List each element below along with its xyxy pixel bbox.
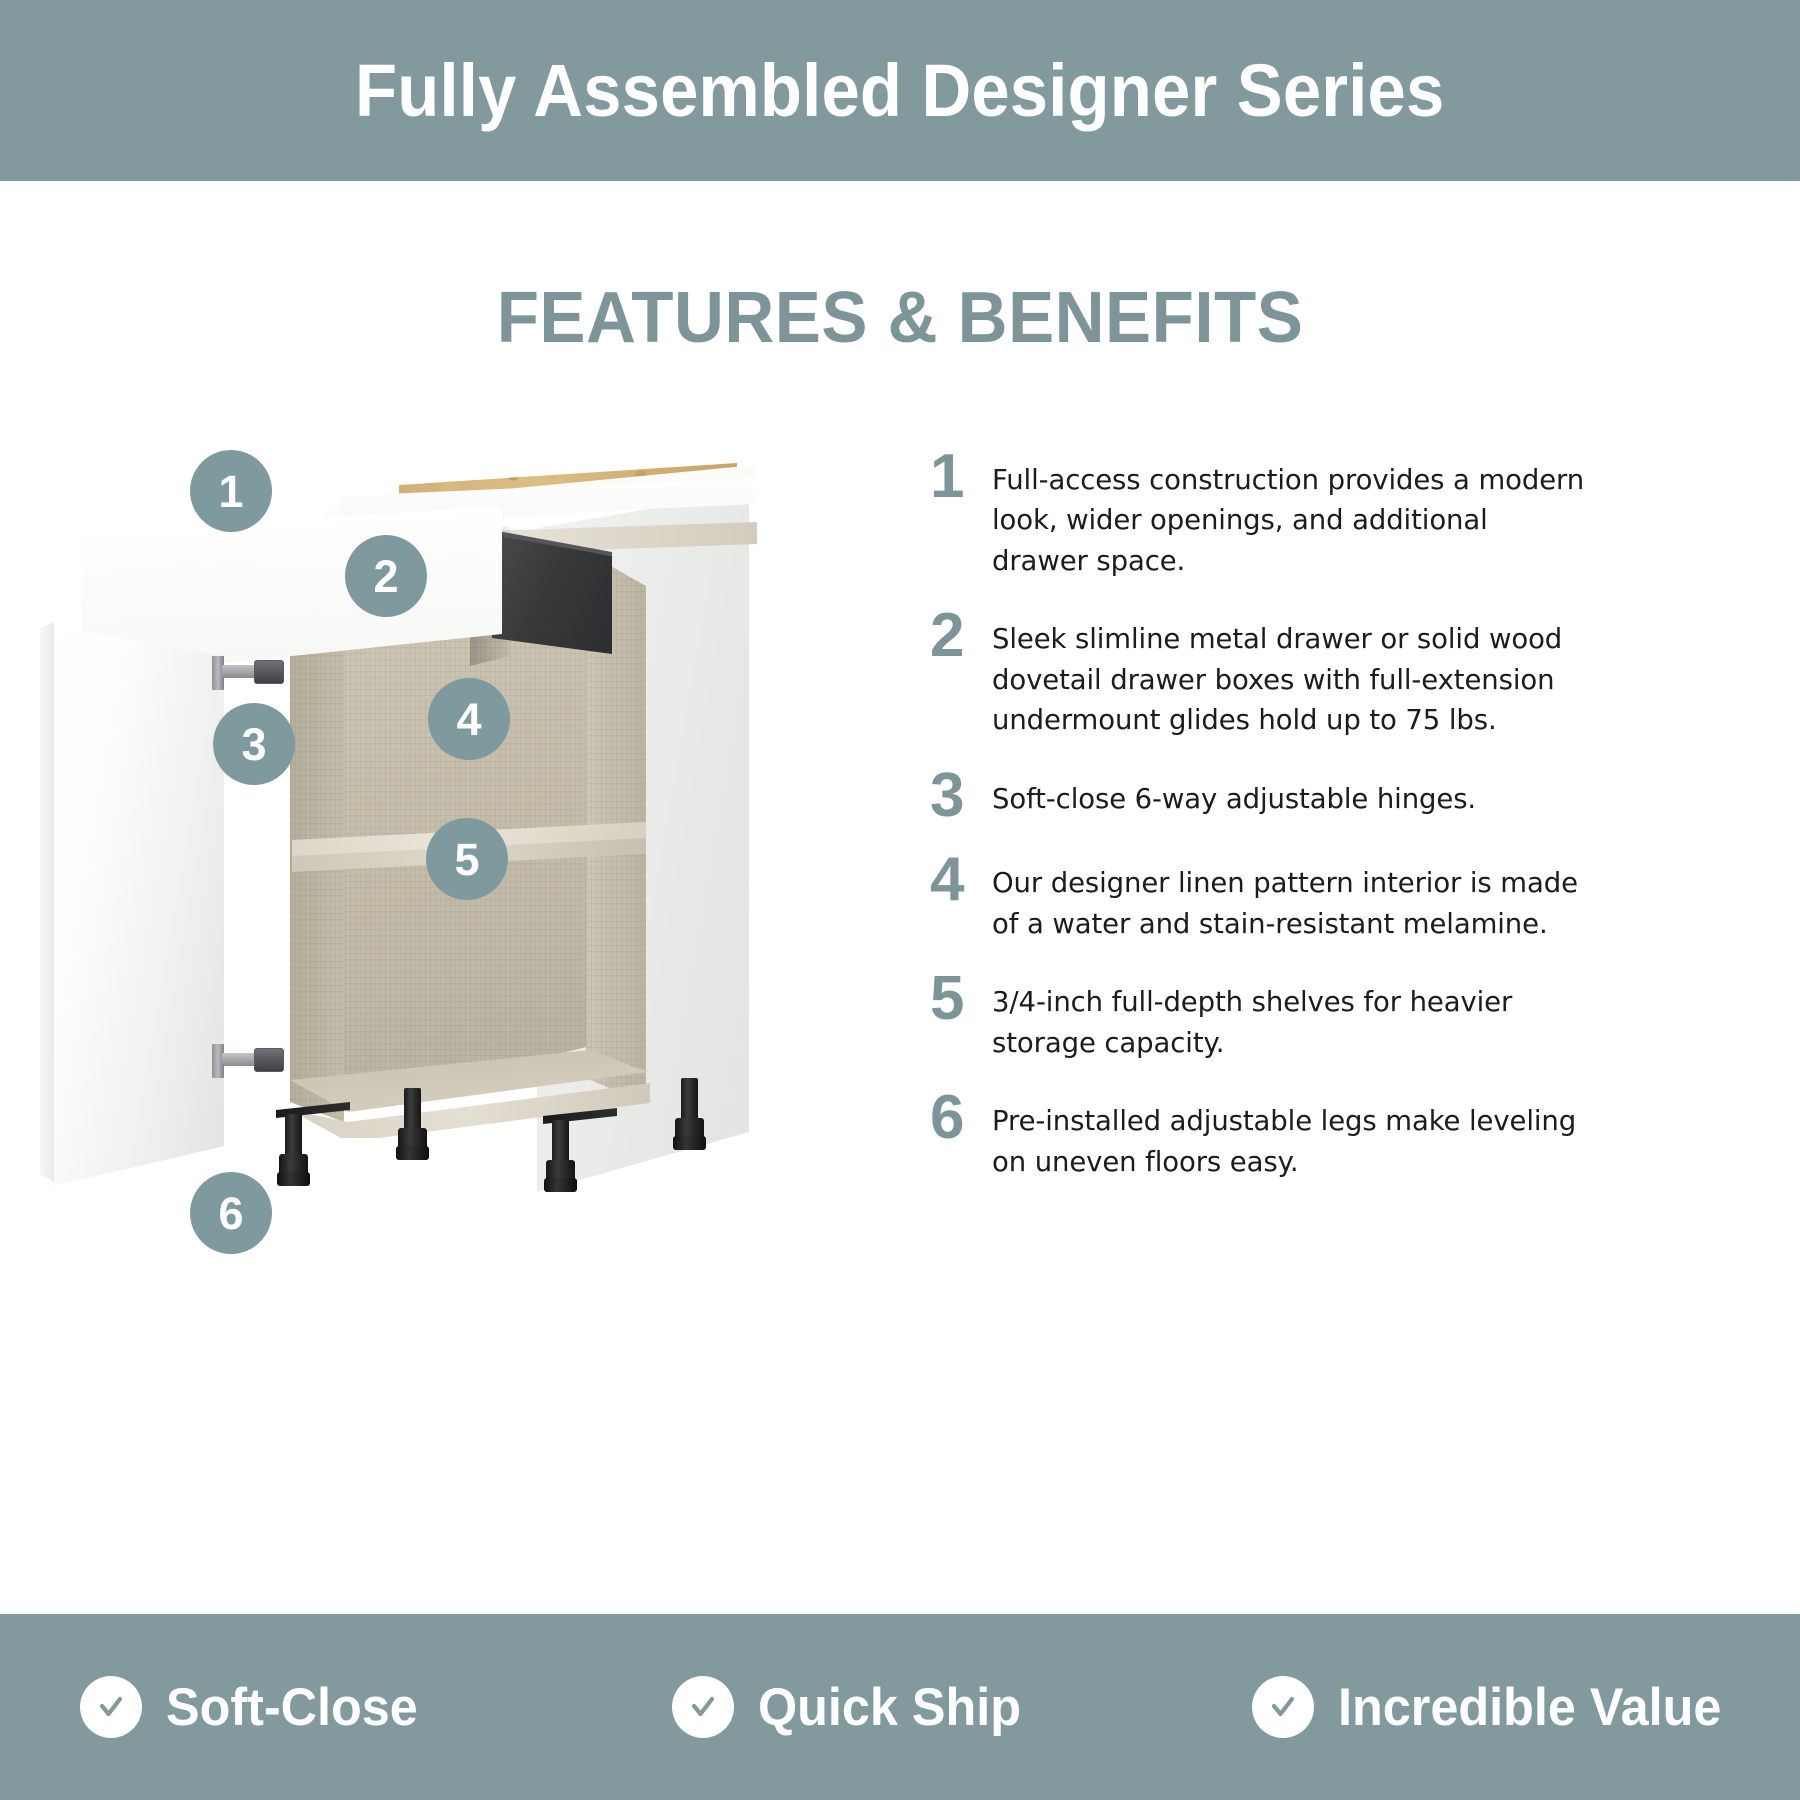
feature-description: Pre-installed adjustable legs make level… bbox=[992, 1089, 1590, 1182]
feature-description: Our designer linen pattern interior is m… bbox=[992, 851, 1590, 944]
feature-description: Full-access construction provides a mode… bbox=[992, 448, 1590, 581]
hinge-cup bbox=[254, 1048, 284, 1072]
features-list: 1 Full-access construction provides a mo… bbox=[930, 448, 1590, 1208]
callout-badge-5: 5 bbox=[426, 818, 508, 900]
footer-badge-label: Incredible Value bbox=[1338, 1677, 1721, 1738]
adjustable-leg bbox=[395, 1088, 429, 1162]
check-circle-icon bbox=[80, 1676, 142, 1738]
callout-badge-2: 2 bbox=[345, 535, 427, 617]
leg-foot bbox=[673, 1136, 706, 1150]
feature-description: 3/4-inch full-depth shelves for heavier … bbox=[992, 970, 1590, 1063]
feature-description: Soft-close 6-way adjustable hinges. bbox=[992, 767, 1590, 819]
footer-badge-label: Soft-Close bbox=[166, 1677, 418, 1738]
feature-description: Sleek slimline metal drawer or solid woo… bbox=[992, 607, 1590, 740]
feature-item: 3 Soft-close 6-way adjustable hinges. bbox=[930, 767, 1590, 826]
cabinet-door-panel bbox=[46, 626, 224, 1186]
feature-item: 2 Sleek slimline metal drawer or solid w… bbox=[930, 607, 1590, 740]
feature-number: 1 bbox=[930, 448, 992, 507]
feature-number: 6 bbox=[930, 1089, 992, 1148]
page-title: Fully Assembled Designer Series bbox=[355, 48, 1444, 133]
section-heading: FEATURES & BENEFITS bbox=[36, 277, 1764, 359]
footer-badge-label: Quick Ship bbox=[758, 1677, 1021, 1738]
leg-foot bbox=[396, 1146, 429, 1160]
footer-badge-quick-ship: Quick Ship bbox=[672, 1676, 1035, 1738]
adjustable-leg bbox=[276, 1114, 310, 1188]
footer-badge-soft-close: Soft-Close bbox=[80, 1676, 431, 1738]
header-bar: Fully Assembled Designer Series bbox=[0, 0, 1800, 181]
footer-bar: Soft-Close Quick Ship Incredible Value bbox=[0, 1614, 1800, 1800]
soft-close-hinge-lower bbox=[212, 1040, 286, 1080]
callout-badge-1: 1 bbox=[190, 450, 272, 532]
soft-close-hinge-upper bbox=[212, 652, 286, 692]
check-circle-icon bbox=[1252, 1676, 1314, 1738]
adjustable-leg bbox=[543, 1120, 577, 1194]
feature-number: 5 bbox=[930, 970, 992, 1029]
feature-number: 2 bbox=[930, 607, 992, 666]
leg-foot bbox=[544, 1178, 577, 1192]
callout-badge-3: 3 bbox=[213, 703, 295, 785]
hinge-cup bbox=[254, 660, 284, 684]
feature-item: 5 3/4-inch full-depth shelves for heavie… bbox=[930, 970, 1590, 1063]
infographic-page: Fully Assembled Designer Series FEATURES… bbox=[0, 0, 1800, 1800]
footer-badge-incredible-value: Incredible Value bbox=[1252, 1676, 1742, 1738]
feature-item: 6 Pre-installed adjustable legs make lev… bbox=[930, 1089, 1590, 1182]
cabinet-door-edge bbox=[40, 622, 56, 1188]
adjustable-leg bbox=[672, 1078, 706, 1152]
leg-foot bbox=[277, 1172, 310, 1186]
feature-item: 1 Full-access construction provides a mo… bbox=[930, 448, 1590, 581]
callout-badge-6: 6 bbox=[190, 1172, 272, 1254]
feature-number: 3 bbox=[930, 767, 992, 826]
callout-badge-4: 4 bbox=[428, 678, 510, 760]
feature-number: 4 bbox=[930, 851, 992, 910]
check-circle-icon bbox=[672, 1676, 734, 1738]
feature-item: 4 Our designer linen pattern interior is… bbox=[930, 851, 1590, 944]
